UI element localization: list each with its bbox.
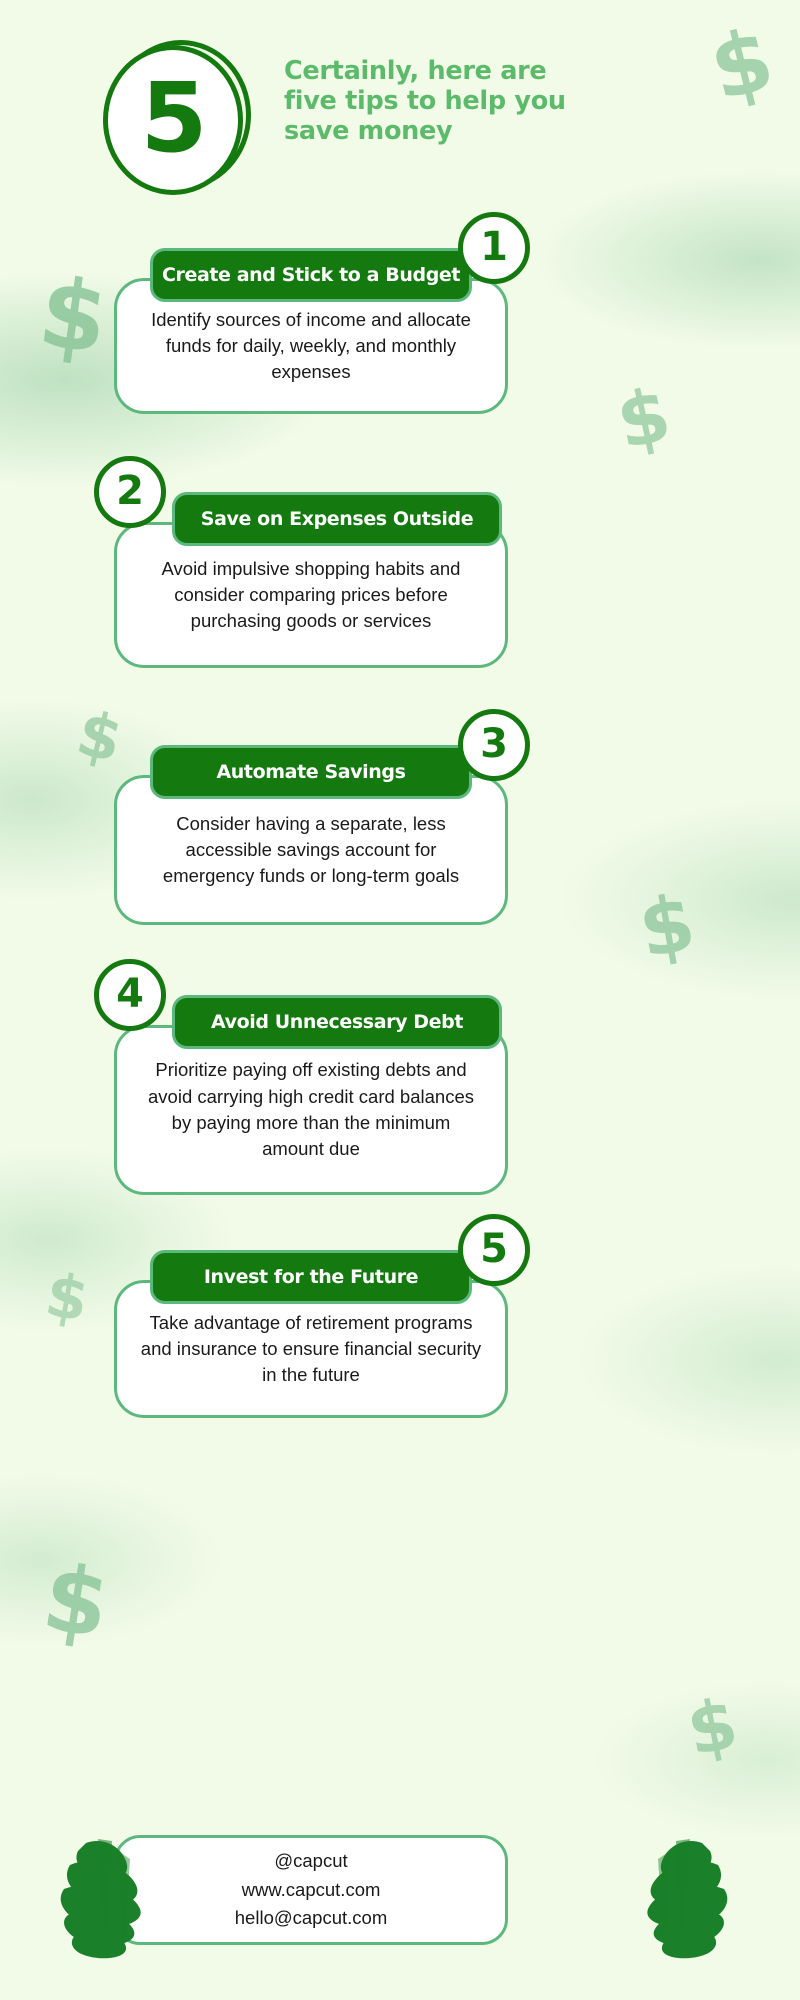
footer-handle: @capcut (274, 1847, 347, 1876)
tip-card-description: Prioritize paying off existing debts and… (117, 1057, 505, 1162)
tip-card-header: Create and Stick to a Budget (150, 248, 472, 302)
tip-number-badge-label: 3 (480, 724, 508, 764)
tip-card-title: Avoid Unnecessary Debt (201, 1011, 473, 1033)
dollar-sign-icon: $ (634, 884, 701, 970)
tip-card-title: Create and Stick to a Budget (152, 264, 470, 286)
tip-card: Avoid impulsive shopping habits and cons… (114, 492, 508, 668)
footer-website[interactable]: www.capcut.com (242, 1876, 381, 1905)
tip-card: Take advantage of retirement programs an… (114, 1250, 508, 1418)
brush-stroke-right-icon (618, 1825, 748, 1965)
header-number-badge: 5 (103, 36, 251, 194)
dollar-sign-icon: $ (37, 1552, 115, 1653)
tip-number-badge-label: 4 (116, 974, 144, 1014)
dollar-sign-icon: $ (611, 377, 677, 460)
tip-card-title: Save on Expenses Outside (191, 508, 483, 530)
contact-footer-card: @capcut www.capcut.com hello@capcut.com (114, 1835, 508, 1945)
tip-card-header: Save on Expenses Outside (172, 492, 502, 546)
dollar-sign-icon: $ (682, 1688, 743, 1766)
header-badge-inner-ring: 5 (103, 45, 243, 195)
tip-number-badge-label: 5 (480, 1229, 508, 1269)
tip-card-description: Identify sources of income and allocate … (117, 307, 505, 386)
tip-number-badge: 2 (94, 456, 166, 528)
tip-number-badge: 4 (94, 959, 166, 1031)
tip-number-badge-label: 2 (116, 471, 144, 511)
tip-card-description: Avoid impulsive shopping habits and cons… (117, 556, 505, 635)
tip-card-header: Automate Savings (150, 745, 472, 799)
page-title: Certainly, here are five tips to help yo… (284, 56, 574, 146)
header-badge-number: 5 (141, 70, 206, 166)
tip-number-badge: 1 (458, 212, 530, 284)
tip-card: Consider having a separate, less accessi… (114, 745, 508, 925)
tip-number-badge-label: 1 (480, 227, 508, 267)
tip-card-body: Prioritize paying off existing debts and… (114, 1025, 508, 1195)
tip-card-description: Take advantage of retirement programs an… (117, 1310, 505, 1389)
tip-card-header: Avoid Unnecessary Debt (172, 995, 502, 1049)
tip-card-title: Automate Savings (206, 761, 415, 783)
tip-card-title: Invest for the Future (194, 1266, 428, 1288)
tip-card-header: Invest for the Future (150, 1250, 472, 1304)
dollar-sign-icon: $ (41, 1265, 93, 1331)
tip-card: Prioritize paying off existing debts and… (114, 995, 508, 1195)
footer-email[interactable]: hello@capcut.com (235, 1904, 387, 1933)
tip-number-badge: 3 (458, 709, 530, 781)
dollar-sign-icon: $ (34, 264, 114, 368)
poster-header: 5 Certainly, here are five tips to help … (0, 36, 800, 196)
tip-number-badge: 5 (458, 1214, 530, 1286)
tip-card-description: Consider having a separate, less accessi… (117, 811, 505, 890)
infographic-poster: $$$$$$$$ 5 Certainly, here are five tips… (0, 0, 800, 2000)
tip-card: Identify sources of income and allocate … (114, 248, 508, 414)
